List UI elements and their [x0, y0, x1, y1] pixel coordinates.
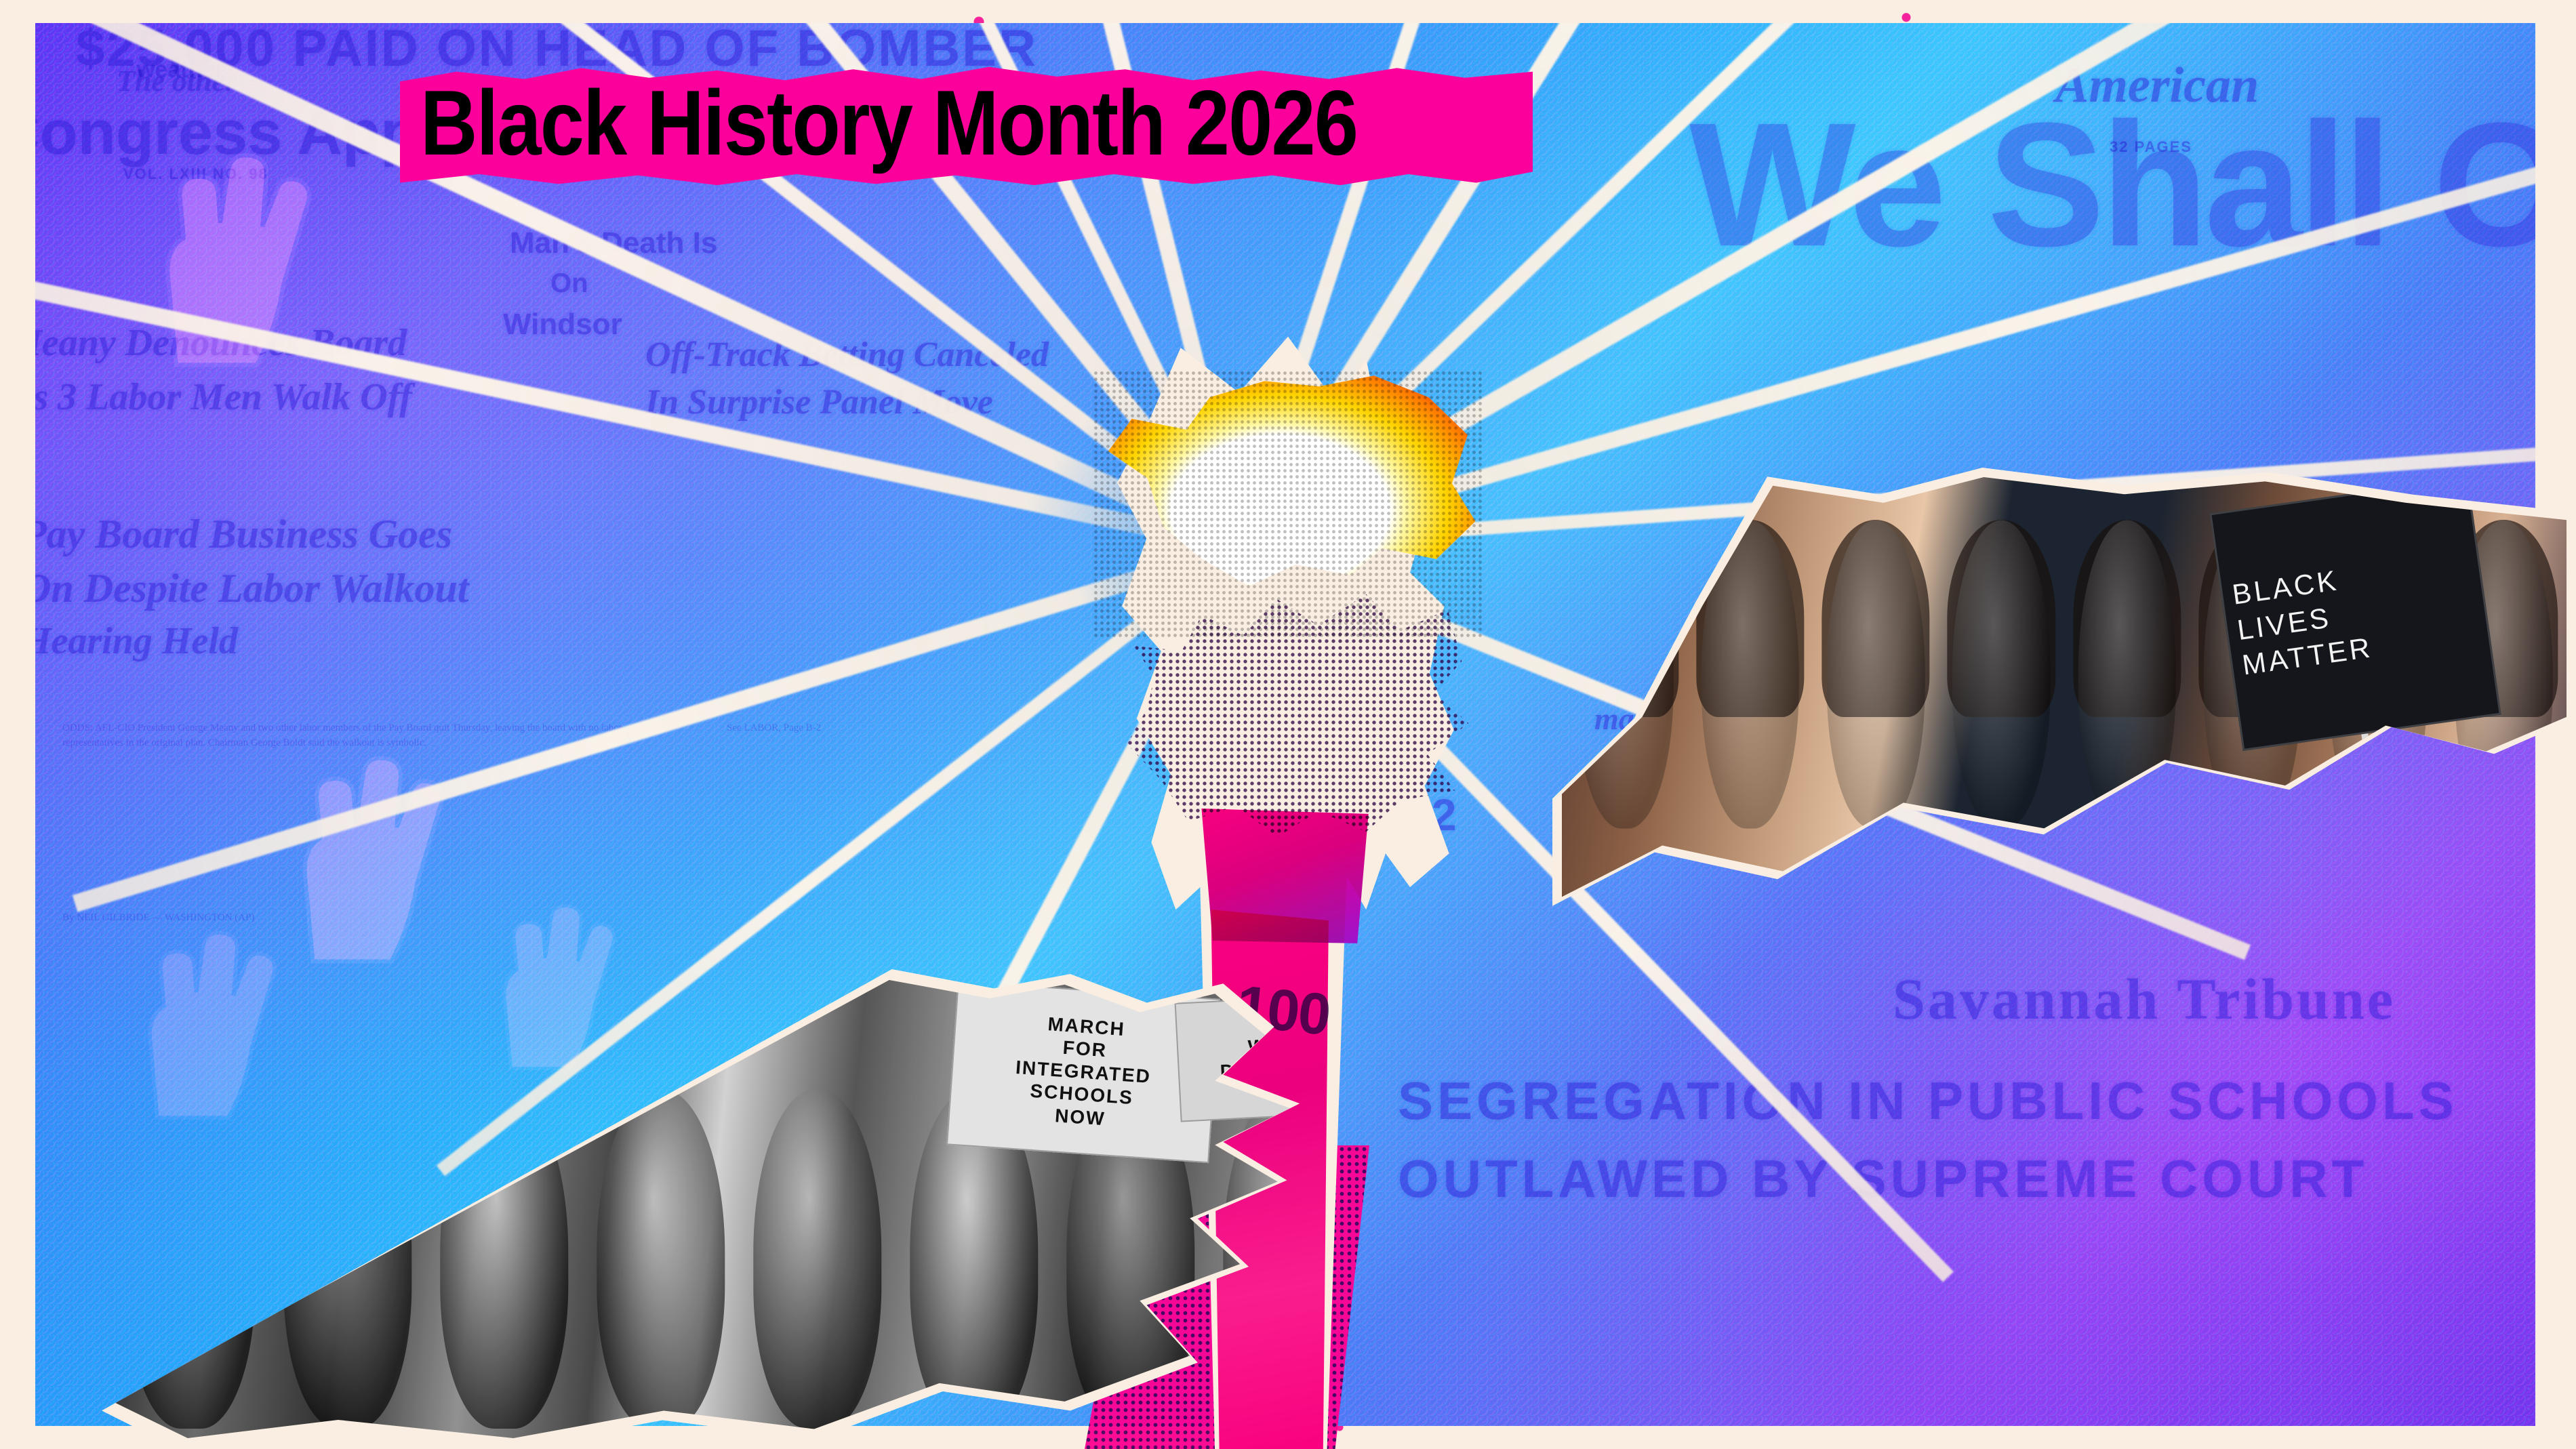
page-title: Black History Month 2026	[420, 77, 1357, 169]
headline-we-shall-overcome: We Shall Overcome	[1689, 84, 2535, 287]
headline-surprise: In Surprise Panel Move	[645, 382, 993, 422]
headline-mans-death: Man's Death Is	[510, 226, 717, 260]
raised-fist-icon	[469, 891, 618, 1074]
headline-american-masthead: American	[2055, 57, 2259, 115]
headline-bomber: $25,000 PAID ON HEAD OF BOMBER	[76, 23, 1038, 78]
headline-windsor: Windsor	[503, 308, 622, 342]
headline-savannah-tribune: Savannah Tribune	[1893, 965, 2396, 1033]
raised-fist-icon	[110, 918, 279, 1121]
body-text-labor-page: See LABOR, Page B-2	[727, 721, 930, 736]
title-banner: Black History Month 2026	[400, 64, 1533, 186]
headline-weather: weather	[137, 57, 224, 83]
headline-walkoff: As 3 Labor Men Walk Off	[35, 375, 412, 419]
flame-halftone	[1093, 370, 1483, 640]
headline-the-other: The other	[117, 64, 237, 98]
protest-line-5: NOW	[1054, 1104, 1106, 1130]
black-lives-matter-sign: BLACK LIVES MATTER	[2209, 477, 2501, 751]
raised-fist-icon	[117, 138, 320, 369]
headline-payboard: Pay Board Business Goes	[35, 511, 452, 558]
raised-fist-icon	[259, 741, 449, 965]
headline-hearing: Hearing Held	[35, 619, 238, 663]
protest-line-1: MARCH	[1047, 1012, 1126, 1040]
headline-on: On	[550, 268, 588, 299]
headline-outlawed: OUTLAWED BY SUPREME COURT	[1398, 1148, 2368, 1210]
historic-portrait	[739, 980, 895, 1438]
poster-canvas: $25,000 PAID ON HEAD OF BOMBER Congress …	[0, 0, 2576, 1449]
headline-offtrack: Off-Track Betting Canceled	[645, 335, 1049, 375]
headline-despite: On Despite Labor Walkout	[35, 565, 469, 612]
headline-segregation: SEGREGATION IN PUBLIC SCHOOLS	[1398, 1070, 2458, 1132]
headline-pages: 32 PAGES	[2110, 138, 2192, 156]
protest-line-2: FOR	[1062, 1036, 1108, 1062]
